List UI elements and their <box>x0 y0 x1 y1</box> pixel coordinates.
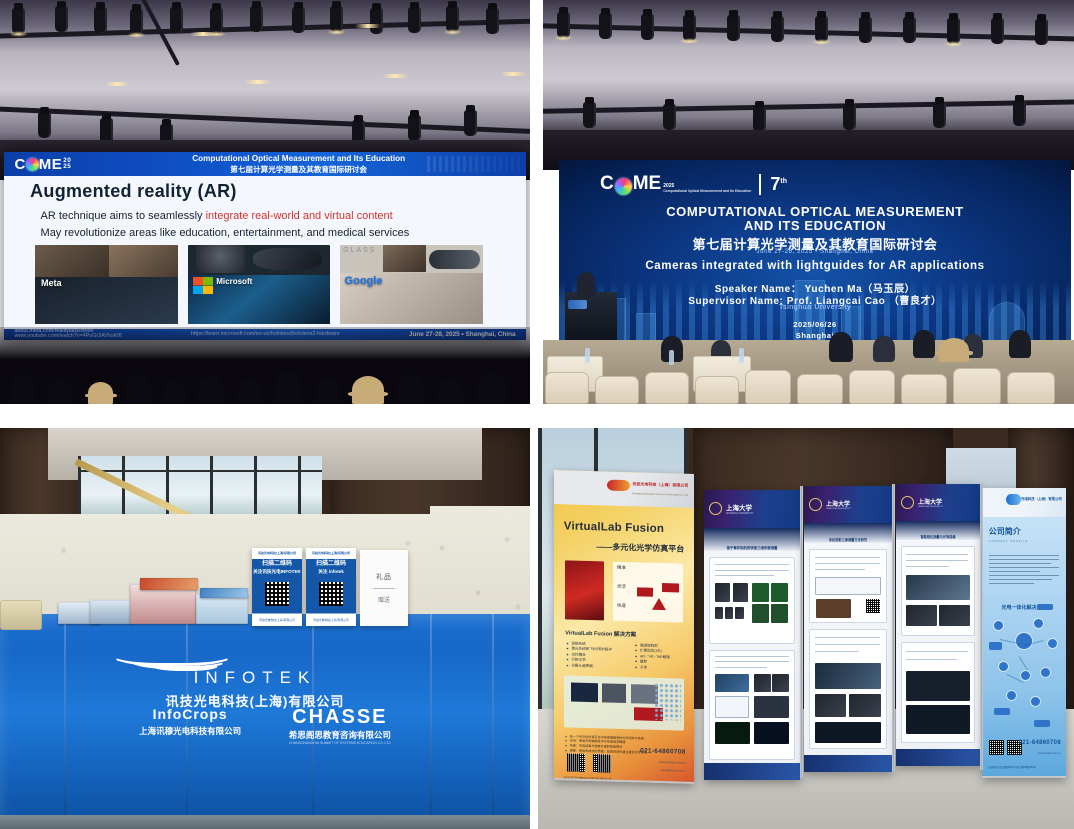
infocrops-name: InfoCrops <box>139 706 241 722</box>
text-line <box>906 659 956 660</box>
figure <box>939 605 969 626</box>
vlf-swoosh-icon <box>607 479 629 491</box>
title-line-2: AND ITS EDUCATION <box>559 218 1071 233</box>
company-profile-title: 公司简介 <box>989 526 1021 537</box>
text-line <box>815 637 880 638</box>
stage-spotlight <box>130 9 143 35</box>
text-line <box>906 560 968 561</box>
speaker-person <box>577 272 595 298</box>
stage-spotlight <box>599 13 612 39</box>
qr-stand-card-2[interactable]: 讯技光电科技(上海)有限公司 扫描二维码 关注 infotek 讯技光电科技(上… <box>306 548 356 626</box>
edition-number: 7th <box>759 174 787 195</box>
poster-title: 基于事件相机的快速三维形貌测量 <box>704 545 800 550</box>
attendee-cap <box>939 338 969 362</box>
text-line <box>715 661 789 662</box>
workflow-image <box>571 682 597 702</box>
audience-head <box>10 374 36 404</box>
workflow-image <box>602 683 626 703</box>
figure <box>772 674 789 691</box>
figure <box>906 575 969 600</box>
audience-head <box>398 374 424 404</box>
talk-title: Cameras integrated with lightguides for … <box>559 260 1071 272</box>
stage-spotlight <box>859 17 872 43</box>
banner-company-profile[interactable]: 讯技光电科技（上海）有限公司 公司简介 COMPANY PROFILE 光电一体… <box>982 488 1066 778</box>
stage-spotlight <box>446 6 459 32</box>
thumb-device <box>253 248 321 270</box>
line1-highlight: integrate real-world and virtual content <box>206 210 393 222</box>
audience-head <box>124 374 151 404</box>
come-logo: C ME 20 25 <box>14 156 71 173</box>
title-line-1: COMPUTATIONAL OPTICAL MEASUREMENT <box>559 204 1071 219</box>
figure <box>906 605 936 626</box>
qr-code[interactable] <box>319 582 343 606</box>
track-light <box>408 115 421 141</box>
scale-label-3: 快速 <box>617 603 626 609</box>
figure <box>754 722 789 744</box>
water-bottle <box>739 348 744 363</box>
figure <box>715 722 750 744</box>
audience-head <box>48 378 72 404</box>
sign-text-sub: 赠送 <box>373 595 395 604</box>
diagram-node <box>1007 691 1016 700</box>
card-footer: 讯技光电科技(上海)有限公司 <box>306 614 356 626</box>
poster-footer <box>804 755 892 772</box>
diagram-node <box>1048 639 1057 648</box>
infotek-table-cloth: INFOTEK 讯技光电科技(上海)有限公司 InfoCrops 上海讯穆光电科… <box>0 614 530 829</box>
chasse-cn: 希思阁思教育咨询有限公司 <box>289 729 391 741</box>
university-name-cn: 上海大学 <box>826 499 851 508</box>
scale-pan-left <box>637 587 654 597</box>
stage-spotlight <box>947 18 960 44</box>
chair <box>953 368 1001 404</box>
thumb-meta: Meta <box>35 245 177 324</box>
infotek-brand-en: INFOTEK <box>110 668 400 688</box>
poster-board-3[interactable]: 上海大学 SHANGHAI UNIVERSITY 智能相位测量与光场成像 <box>896 484 980 766</box>
company-name-cn: 讯技光电科技（上海）有限公司 <box>1014 496 1061 501</box>
text-line <box>815 557 880 558</box>
edition-suffix: th <box>780 178 787 185</box>
come-logo-sphere <box>26 158 39 171</box>
university-name-wrap: 上海大学 SHANGHAI UNIVERSITY <box>826 499 851 510</box>
qr-code[interactable] <box>265 582 289 606</box>
attendee <box>1009 330 1031 358</box>
stage-spotlight <box>991 18 1004 44</box>
vlf-bullets-right: 微透镜阵列 扩展现实(XR) AR／VR／MR眼镜 散射 干涉 <box>635 643 670 672</box>
figure <box>754 674 771 691</box>
text-line <box>815 563 880 564</box>
sign-text-wrap: 礼品 赠送 <box>373 572 395 604</box>
audience-head <box>163 380 186 404</box>
logo-chasse: CHASSE 希思阁思教育咨询有限公司 CHANGSHANGHAI SUMMIT… <box>289 706 391 745</box>
vlf-company-en: Shanghai Information Science & Technolog… <box>632 492 689 497</box>
diagram-node <box>994 621 1003 630</box>
date-stamp: 2025/06/26 <box>559 320 1071 329</box>
track-light <box>933 102 946 128</box>
attendee <box>873 336 895 362</box>
track-light <box>663 104 676 130</box>
stage-spotlight <box>170 7 183 33</box>
vlf-qr-code-2[interactable] <box>593 754 611 773</box>
banner-virtuallab-fusion[interactable]: 讯技光电科技（上海）有限公司 Shanghai Information Scie… <box>554 470 694 784</box>
stage-spotlight <box>1035 19 1048 45</box>
scale-label-2: 灵活 <box>617 584 626 590</box>
slide-line-2: May revolutionize areas like education, … <box>41 227 410 239</box>
attendee <box>829 332 853 362</box>
brochure-stack[interactable] <box>130 584 196 624</box>
stage-spotlight <box>903 17 916 43</box>
floor <box>0 815 530 829</box>
text-line <box>906 651 968 652</box>
vlf-scale-diagram: 精准 灵活 快速 <box>613 562 683 623</box>
scale-pan-right <box>662 583 679 593</box>
chair <box>745 370 791 404</box>
vlf-product-box-image <box>565 560 604 620</box>
university-name-wrap: 上海大学 SHANGHAI UNIVERSITY <box>726 502 754 515</box>
brand-label-microsoft: Microsoft <box>216 277 252 286</box>
stage-spotlight <box>250 6 263 32</box>
text-line <box>815 651 859 652</box>
diagram-node <box>1031 697 1040 706</box>
banner-header: 讯技光电科技（上海）有限公司 Shanghai Information Scie… <box>554 470 694 508</box>
infocrops-cn: 上海讯穆光电科技有限公司 <box>139 725 241 737</box>
figure <box>725 607 733 619</box>
university-seal-icon <box>809 498 822 511</box>
figure <box>816 599 851 618</box>
projection-screen-title: C ME 2025 Computational Optical Measurem… <box>559 160 1071 342</box>
slide-line-1: AR technique aims to seamlessly integrat… <box>41 210 393 222</box>
podium-logo <box>568 300 587 308</box>
thumb-microsoft: Microsoft <box>188 245 330 324</box>
card-header: 讯技光电科技(上海)有限公司 <box>306 548 356 559</box>
flowchart <box>715 696 749 718</box>
stage-spotlight <box>330 6 343 32</box>
thumb-image <box>35 245 109 277</box>
audience-silhouettes <box>0 327 530 404</box>
diagram-node <box>1041 668 1050 677</box>
diagram-node <box>1034 619 1043 628</box>
text-line <box>906 566 949 567</box>
strip-light <box>245 80 271 84</box>
university-seal-icon <box>709 502 722 515</box>
microsoft-logo-icon <box>193 277 213 294</box>
come-logo-year: 20 25 <box>63 158 71 170</box>
card-header: 讯技光电科技(上海)有限公司 <box>252 548 302 559</box>
audience-head <box>316 378 340 404</box>
university-name-en: SHANGHAI UNIVERSITY <box>826 508 851 510</box>
logo-infocrops: InfoCrops 上海讯穆光电科技有限公司 <box>139 706 241 745</box>
audience-head <box>438 378 463 404</box>
diagram-box <box>989 642 1002 650</box>
glass-label: GLASS <box>343 247 376 254</box>
figure <box>715 583 730 602</box>
photo-infotek-exhibition-table[interactable]: INFOTEK 讯技光电科技(上海)有限公司 InfoCrops 上海讯穆光电科… <box>0 428 530 829</box>
figure <box>715 607 723 619</box>
track-light <box>464 110 477 136</box>
stage-spotlight <box>771 16 784 42</box>
strip-light <box>355 24 381 28</box>
brochure-top-cover[interactable] <box>140 578 198 590</box>
poster-header: 上海大学 SHANGHAI UNIVERSITY <box>704 490 800 528</box>
infotek-swoosh-icon <box>110 646 400 670</box>
chair <box>695 376 739 404</box>
banner-base <box>982 776 1066 778</box>
thumb-image <box>109 245 177 277</box>
audience-head <box>478 373 506 404</box>
thumb-google: GLASS Google <box>340 245 482 324</box>
vlf-bullets-left: 透镜系统 激光系统和飞秒/阿秒脉冲 光纤耦合 衍射光学 光栅＆超表面 <box>567 641 612 670</box>
chasse-tiny: CHANGSHANGHAI SUMMIT OF SYSTEMS EDUCATIO… <box>289 741 391 745</box>
figure <box>906 671 969 701</box>
audience-head-cap <box>88 382 113 404</box>
figure <box>771 604 788 623</box>
vlf-workflow-diagram <box>564 675 684 731</box>
slide-body: Augmented reality (AR) AR technique aims… <box>4 176 526 328</box>
text-line <box>715 667 767 668</box>
figure <box>815 694 847 718</box>
vlf-qr-code-1[interactable] <box>567 753 585 772</box>
scale-fulcrum <box>652 598 666 610</box>
banner-header: 讯技光电科技（上海）有限公司 <box>982 488 1066 517</box>
bullet-item: 干涉 <box>635 665 670 672</box>
diagram-node <box>999 662 1008 671</box>
brochure-top-cover[interactable] <box>200 588 248 598</box>
strip-light <box>105 82 129 86</box>
come-logo-tagline: 2025 Computational Optical Measurement a… <box>663 184 751 195</box>
university-name-cn: 上海大学 <box>918 497 943 506</box>
chair <box>545 372 589 404</box>
city-label: Shanghai <box>559 331 1071 340</box>
stage-spotlight <box>486 8 499 34</box>
university-name-en: SHANGHAI UNIVERSITY <box>726 512 754 515</box>
poster-title-band: 条纹投影三维测量方法研究 <box>804 523 892 543</box>
date-place: June 27-28, 2025 • Shanghai, China <box>559 249 1071 255</box>
diagram-box <box>1037 604 1053 610</box>
partner-logo-row: InfoCrops 上海讯穆光电科技有限公司 CHASSE 希思阁思教育咨询有限… <box>0 706 530 745</box>
come-logo-sphere <box>615 178 632 195</box>
poster-title-band: 基于事件相机的快速三维形貌测量 <box>704 528 800 551</box>
card-footer-text: 讯技光电科技(上海)有限公司 <box>252 614 302 622</box>
vlf-title: VirtualLab Fusion <box>564 520 664 535</box>
photo-collage: C ME 20 25 Computational Optical Measure… <box>0 0 1074 829</box>
poster-title: 条纹投影三维测量方法研究 <box>804 537 892 542</box>
figure <box>754 696 789 718</box>
thumb-image <box>383 245 426 272</box>
stage-spotlight <box>815 16 828 42</box>
poster-title: 智能相位测量与光场成像 <box>896 534 980 539</box>
poster-section <box>709 650 795 760</box>
board-divider <box>980 484 983 770</box>
stage-spotlight <box>727 15 740 41</box>
card-line-1: 扫描二维码 <box>306 561 356 569</box>
come-logo: C ME 2025 Computational Optical Measurem… <box>600 173 787 195</box>
figure <box>733 583 748 602</box>
card-company: 讯技光电科技(上海)有限公司 <box>258 551 296 555</box>
logo-tagline-text: Computational Optical Measurement and It… <box>663 189 751 193</box>
poster-qr-code[interactable] <box>866 599 880 613</box>
university-name-cn: 上海大学 <box>726 502 754 512</box>
company-profile-title-en: COMPANY PROFILE <box>989 540 1029 543</box>
track-light <box>1013 100 1026 126</box>
vlf-website: www.infotek.com.cn <box>659 760 686 765</box>
slide-header-bar: C ME 20 25 Computational Optical Measure… <box>4 152 526 176</box>
university-seal-icon <box>901 496 914 509</box>
attendee <box>913 330 935 358</box>
audience-head <box>198 376 224 404</box>
vlf-footer-bullets: 在一个多元化仿真平台内快速建模各种光学组件与系统 灵活：使用多种建模技术与场追迹… <box>565 734 647 756</box>
company-address: 上海市徐汇区虹漕路88号中南大厦18楼1801室 <box>987 765 1036 769</box>
figure <box>771 583 788 602</box>
slide-heading: Augmented reality (AR) <box>30 181 237 202</box>
university-name-en: SHANGHAI UNIVERSITY <box>918 506 943 508</box>
edition-value: 7 <box>770 174 780 194</box>
track-light <box>843 104 856 130</box>
poster-footer <box>896 749 980 766</box>
card-company: 讯技光电科技(上海)有限公司 <box>312 551 350 555</box>
figure <box>752 583 769 602</box>
brand-label-google: Google <box>345 275 383 287</box>
poster-title-band: 智能相位测量与光场成像 <box>896 521 980 541</box>
strip-light <box>190 32 216 36</box>
poster-header: 上海大学 SHANGHAI UNIVERSITY <box>804 486 892 523</box>
infotek-logo-block: INFOTEK 讯技光电科技(上海)有限公司 <box>110 646 400 710</box>
board-divider <box>800 486 803 778</box>
logo-year-bottom: 25 <box>63 163 71 170</box>
company-swoosh-icon <box>1006 494 1021 504</box>
board-divider <box>892 484 895 772</box>
scale-label-1: 精准 <box>617 565 626 571</box>
text-line <box>715 575 774 576</box>
poster-header: 上海大学 SHANGHAI UNIVERSITY <box>896 484 980 521</box>
stage-spotlight <box>210 8 223 34</box>
water-bottle <box>669 350 674 365</box>
card-call-to-action: 扫描二维码 关注讯技光电INFOTEK <box>252 561 302 574</box>
figure <box>815 663 881 689</box>
table-figure <box>815 577 881 594</box>
audience-head <box>274 372 302 404</box>
company-description <box>989 552 1060 587</box>
diagram-box <box>994 708 1010 715</box>
gift-sign-card[interactable]: 礼品 赠送 <box>360 550 408 626</box>
side-table-cloth <box>0 600 42 630</box>
poster-board-1[interactable]: 上海大学 SHANGHAI UNIVERSITY 基于事件相机的快速三维形貌测量 <box>704 490 800 780</box>
poster-section <box>809 549 886 623</box>
stage-spotlight <box>557 12 570 38</box>
stage-spotlight <box>94 7 107 33</box>
card-footer-text: 讯技光电科技(上海)有限公司 <box>306 614 356 622</box>
vlf-phone: 021-64860708 <box>640 748 686 756</box>
diagram-node <box>1021 671 1030 680</box>
vlf-subtitle: ——多元化光学仿真平台 <box>596 541 684 554</box>
card-line-2: 关注讯技光电INFOTEK <box>252 569 302 575</box>
chair <box>1007 372 1055 404</box>
chair <box>849 370 895 404</box>
company-qr-code-1[interactable] <box>989 740 1004 755</box>
vlf-company-cn: 讯技光电科技（上海）有限公司 <box>632 481 688 489</box>
bullet-item: 光栅＆超表面 <box>567 663 612 670</box>
photo-title-slide-auditorium[interactable]: C ME 2025 Computational Optical Measurem… <box>543 0 1074 404</box>
audience-head-cap <box>352 376 384 404</box>
thumb-image <box>196 245 244 274</box>
chair <box>595 376 639 404</box>
poster-section <box>709 557 795 644</box>
brochure-stack[interactable] <box>196 594 248 624</box>
strip-light <box>500 72 526 76</box>
thumb-glasses <box>429 250 480 269</box>
card-line-1: 扫描二维码 <box>252 561 302 569</box>
stage-spotlight <box>683 15 696 41</box>
poster-footer <box>704 763 800 780</box>
figure <box>906 705 969 735</box>
text-line <box>715 570 789 571</box>
stage-spotlight <box>292 7 305 33</box>
sign-text-main: 礼品 <box>373 572 395 582</box>
qr-stand-card-1[interactable]: 讯技光电科技(上海)有限公司 扫描二维码 关注讯技光电INFOTEK 讯技光电科… <box>252 548 302 626</box>
line1-prefix: AR technique aims to seamlessly <box>41 210 206 222</box>
track-light <box>753 106 766 132</box>
text-line <box>815 644 880 645</box>
vlf-email: sales@infotek.com.cn <box>660 769 685 773</box>
text-line <box>715 656 789 657</box>
figure <box>752 604 769 623</box>
slide-thumbnail-row: Meta Microsoft GLASS <box>35 245 494 324</box>
workflow-node-cloud <box>654 683 680 721</box>
company-website: www.infotek.com.cn <box>1038 752 1061 755</box>
company-phone: 021-64860708 <box>1019 740 1061 746</box>
projection-screen-ar: C ME 20 25 Computational Optical Measure… <box>4 152 526 340</box>
chasse-name: CHASSE <box>289 706 391 729</box>
figure <box>815 722 881 743</box>
stage-spotlight <box>12 8 25 34</box>
diagram-box <box>1034 720 1050 727</box>
header-skyline-graphic <box>427 156 521 172</box>
text-line <box>906 554 968 555</box>
chair <box>901 374 947 404</box>
poster-board-2[interactable]: 上海大学 SHANGHAI UNIVERSITY 条纹投影三维测量方法研究 <box>804 486 892 772</box>
figure <box>735 607 743 619</box>
poster-section <box>901 642 975 744</box>
diagram-node-center <box>1016 633 1032 649</box>
card-line-2: 关注 infotek <box>306 569 356 575</box>
diagram-connector <box>1019 656 1028 670</box>
card-footer: 讯技光电科技(上海)有限公司 <box>252 614 302 626</box>
affiliation: Tsinghua University <box>559 304 1071 311</box>
water-bottle <box>585 348 590 363</box>
diagram-title: 光电一体化解决方案 <box>982 604 1066 611</box>
stage-spotlight <box>408 7 421 33</box>
track-light <box>38 112 51 138</box>
figure <box>715 674 749 691</box>
vlf-solutions-header: VirtualLab Fusion 解决方案 <box>565 628 636 638</box>
figure <box>849 694 881 718</box>
audience-head <box>238 379 262 404</box>
text-line <box>815 569 865 570</box>
chair <box>645 372 689 404</box>
stage-spotlight <box>370 8 383 34</box>
brochure-stack[interactable] <box>90 600 132 624</box>
stage-spotlight <box>641 14 654 40</box>
university-name-wrap: 上海大学 SHANGHAI UNIVERSITY <box>918 497 943 508</box>
chair <box>797 374 843 404</box>
poster-section <box>809 629 886 749</box>
photo-roll-up-banner-display[interactable]: 讯技光电科技（上海）有限公司 Shanghai Information Scie… <box>538 428 1074 829</box>
poster-section <box>901 546 975 636</box>
sign-divider <box>373 588 395 589</box>
window-transom <box>78 470 322 472</box>
photo-ar-slide-auditorium[interactable]: C ME 20 25 Computational Optical Measure… <box>0 0 530 404</box>
track-light <box>583 102 596 128</box>
stage-spotlight <box>55 6 68 32</box>
strip-light <box>382 74 408 78</box>
